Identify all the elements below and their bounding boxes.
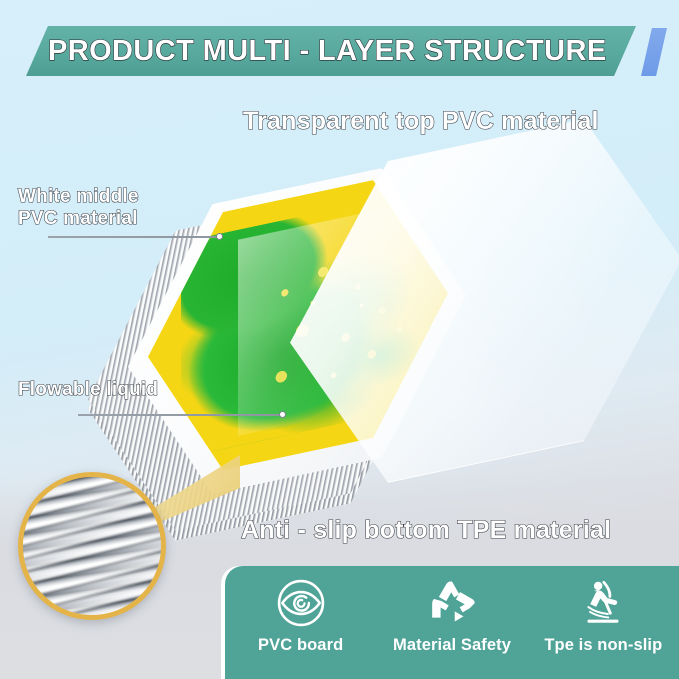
feature-item-pvc-board: PVC board [226, 576, 376, 655]
recycle-icon [425, 576, 479, 630]
leader-line-white-middle-pvc [48, 236, 218, 238]
banner-slash-accent [641, 28, 667, 76]
label-transparent-top-pvc: Transparent top PVC material [243, 107, 599, 137]
feature-item-tpe-non-slip: Tpe is non-slip [528, 576, 678, 655]
slip-warning-icon [576, 576, 630, 630]
feature-label-material-safety: Material Safety [393, 636, 511, 655]
label-white-middle-pvc-line2: PVC material [18, 208, 208, 230]
label-white-middle-pvc: White middle PVC material [18, 186, 208, 231]
label-flowable-liquid: Flowable liquid [18, 379, 158, 401]
tpe-wave-texture [18, 472, 166, 620]
feature-label-tpe-non-slip: Tpe is non-slip [544, 636, 662, 655]
label-white-middle-pvc-line1: White middle [18, 186, 208, 208]
magnifier-texture-detail [18, 472, 166, 620]
eye-icon [274, 576, 328, 630]
leader-dot [216, 233, 223, 240]
feature-bar: PVC board Material Safety [225, 566, 679, 679]
product-structure-infographic: Transparent top PVC material White middl… [0, 0, 679, 679]
leader-line-flowable-liquid [78, 414, 281, 416]
page-title: PRODUCT MULTI - LAYER STRUCTURE [48, 26, 607, 76]
feature-label-pvc-board: PVC board [258, 636, 343, 655]
feature-item-material-safety: Material Safety [377, 576, 527, 655]
leader-dot [279, 411, 286, 418]
header-banner: PRODUCT MULTI - LAYER STRUCTURE [0, 26, 679, 76]
label-anti-slip-bottom-tpe: Anti - slip bottom TPE material [241, 516, 611, 546]
